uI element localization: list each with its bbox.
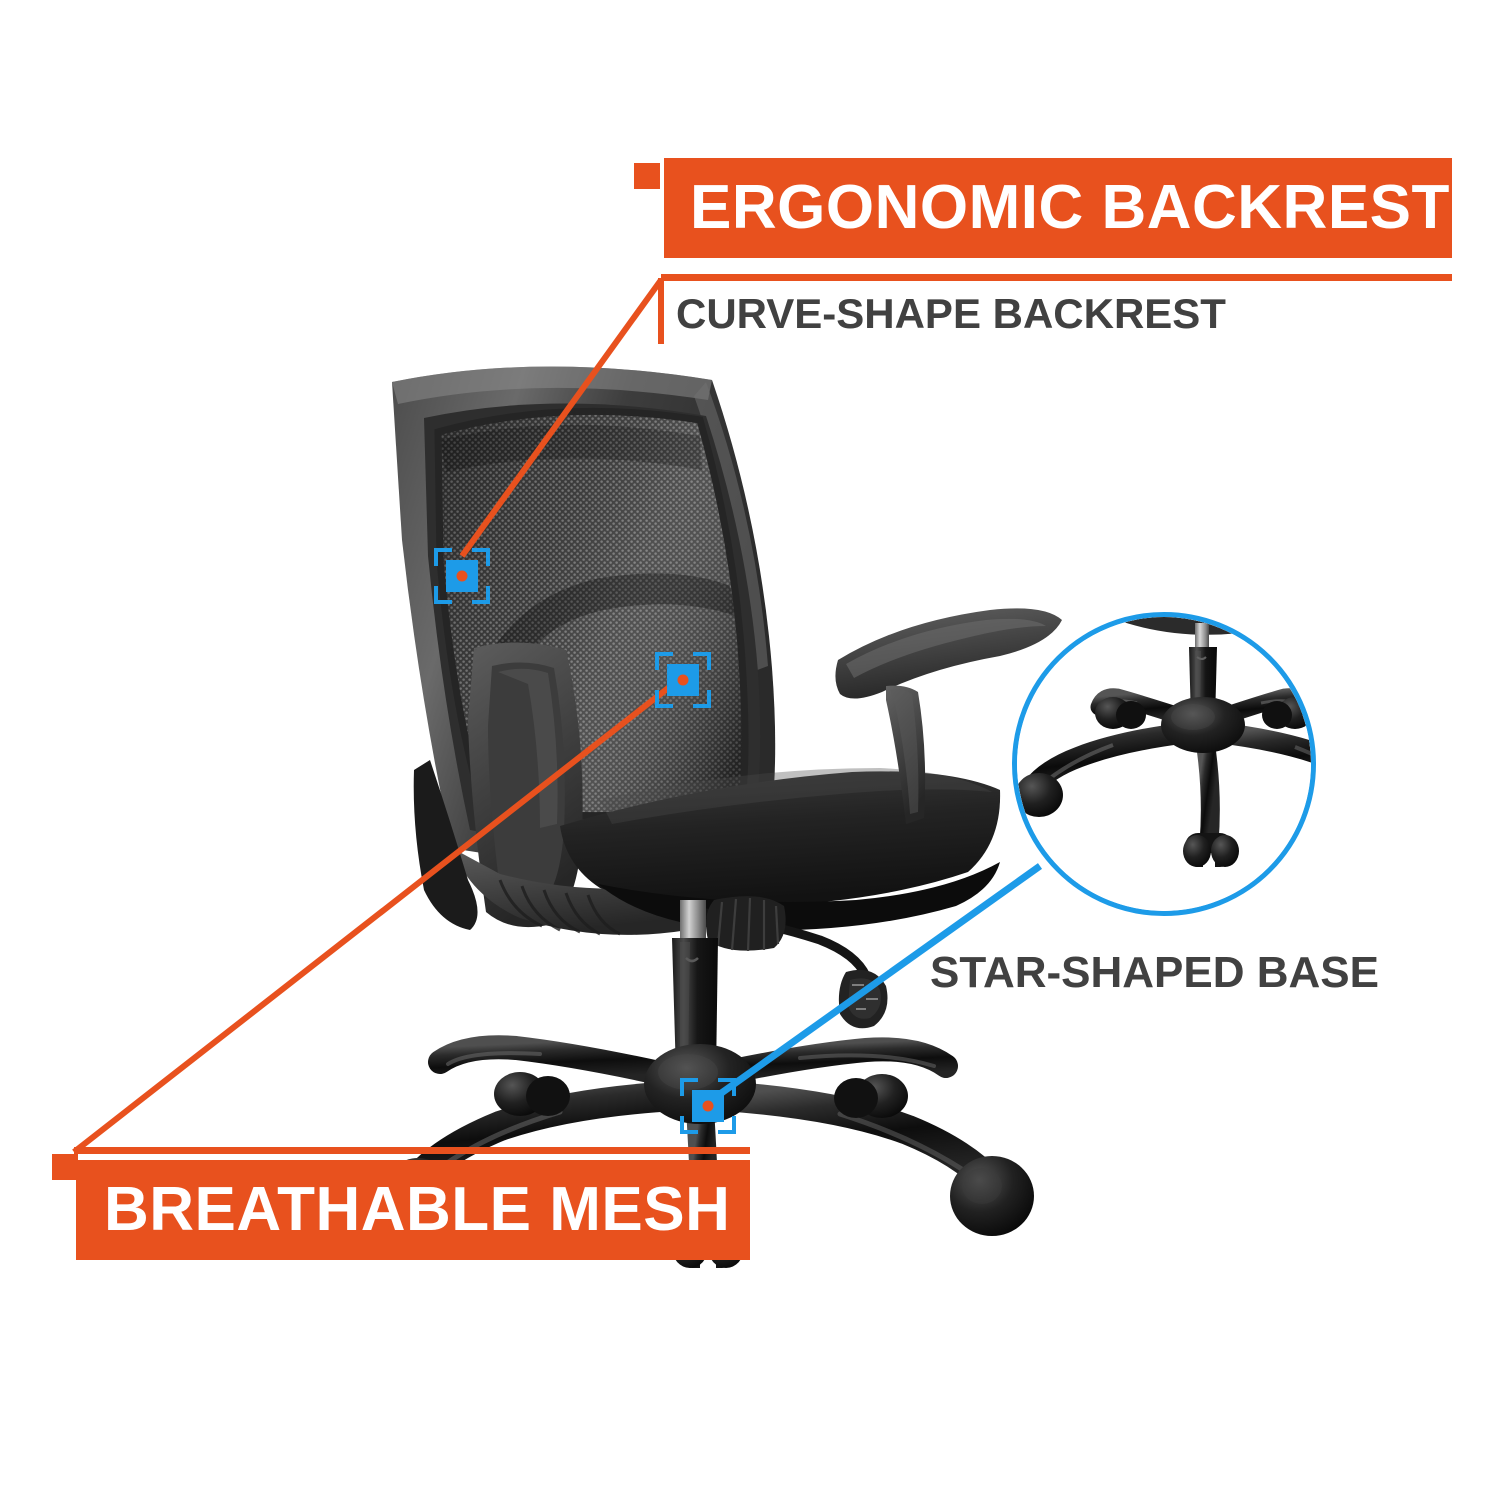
ergonomic-backrest-banner: ERGONOMIC BACKREST xyxy=(664,158,1452,258)
star-base-magnifier-inset xyxy=(1012,612,1316,916)
bottom-accent-square xyxy=(52,1154,78,1180)
curve-shape-backrest-label: CURVE-SHAPE BACKREST xyxy=(676,293,1226,335)
marker-dot xyxy=(457,571,468,582)
header-accent-square xyxy=(634,163,660,189)
marker-mesh[interactable] xyxy=(655,652,711,708)
bottom-banner-top-rule xyxy=(74,1147,750,1154)
infographic-canvas: ERGONOMIC BACKREST CURVE-SHAPE BACKREST … xyxy=(0,0,1500,1500)
marker-backrest-frame[interactable] xyxy=(434,548,490,604)
marker-dot xyxy=(703,1101,714,1112)
marker-base[interactable] xyxy=(680,1078,736,1134)
breathable-mesh-banner: BREATHABLE MESH xyxy=(76,1160,750,1260)
ergonomic-backrest-title: ERGONOMIC BACKREST xyxy=(690,177,1450,239)
header-underline-rule xyxy=(661,274,1452,281)
magnified-star-base xyxy=(1017,617,1311,911)
breathable-mesh-title: BREATHABLE MESH xyxy=(104,1179,730,1241)
marker-dot xyxy=(678,675,689,686)
star-shaped-base-label: STAR-SHAPED BASE xyxy=(930,951,1379,995)
